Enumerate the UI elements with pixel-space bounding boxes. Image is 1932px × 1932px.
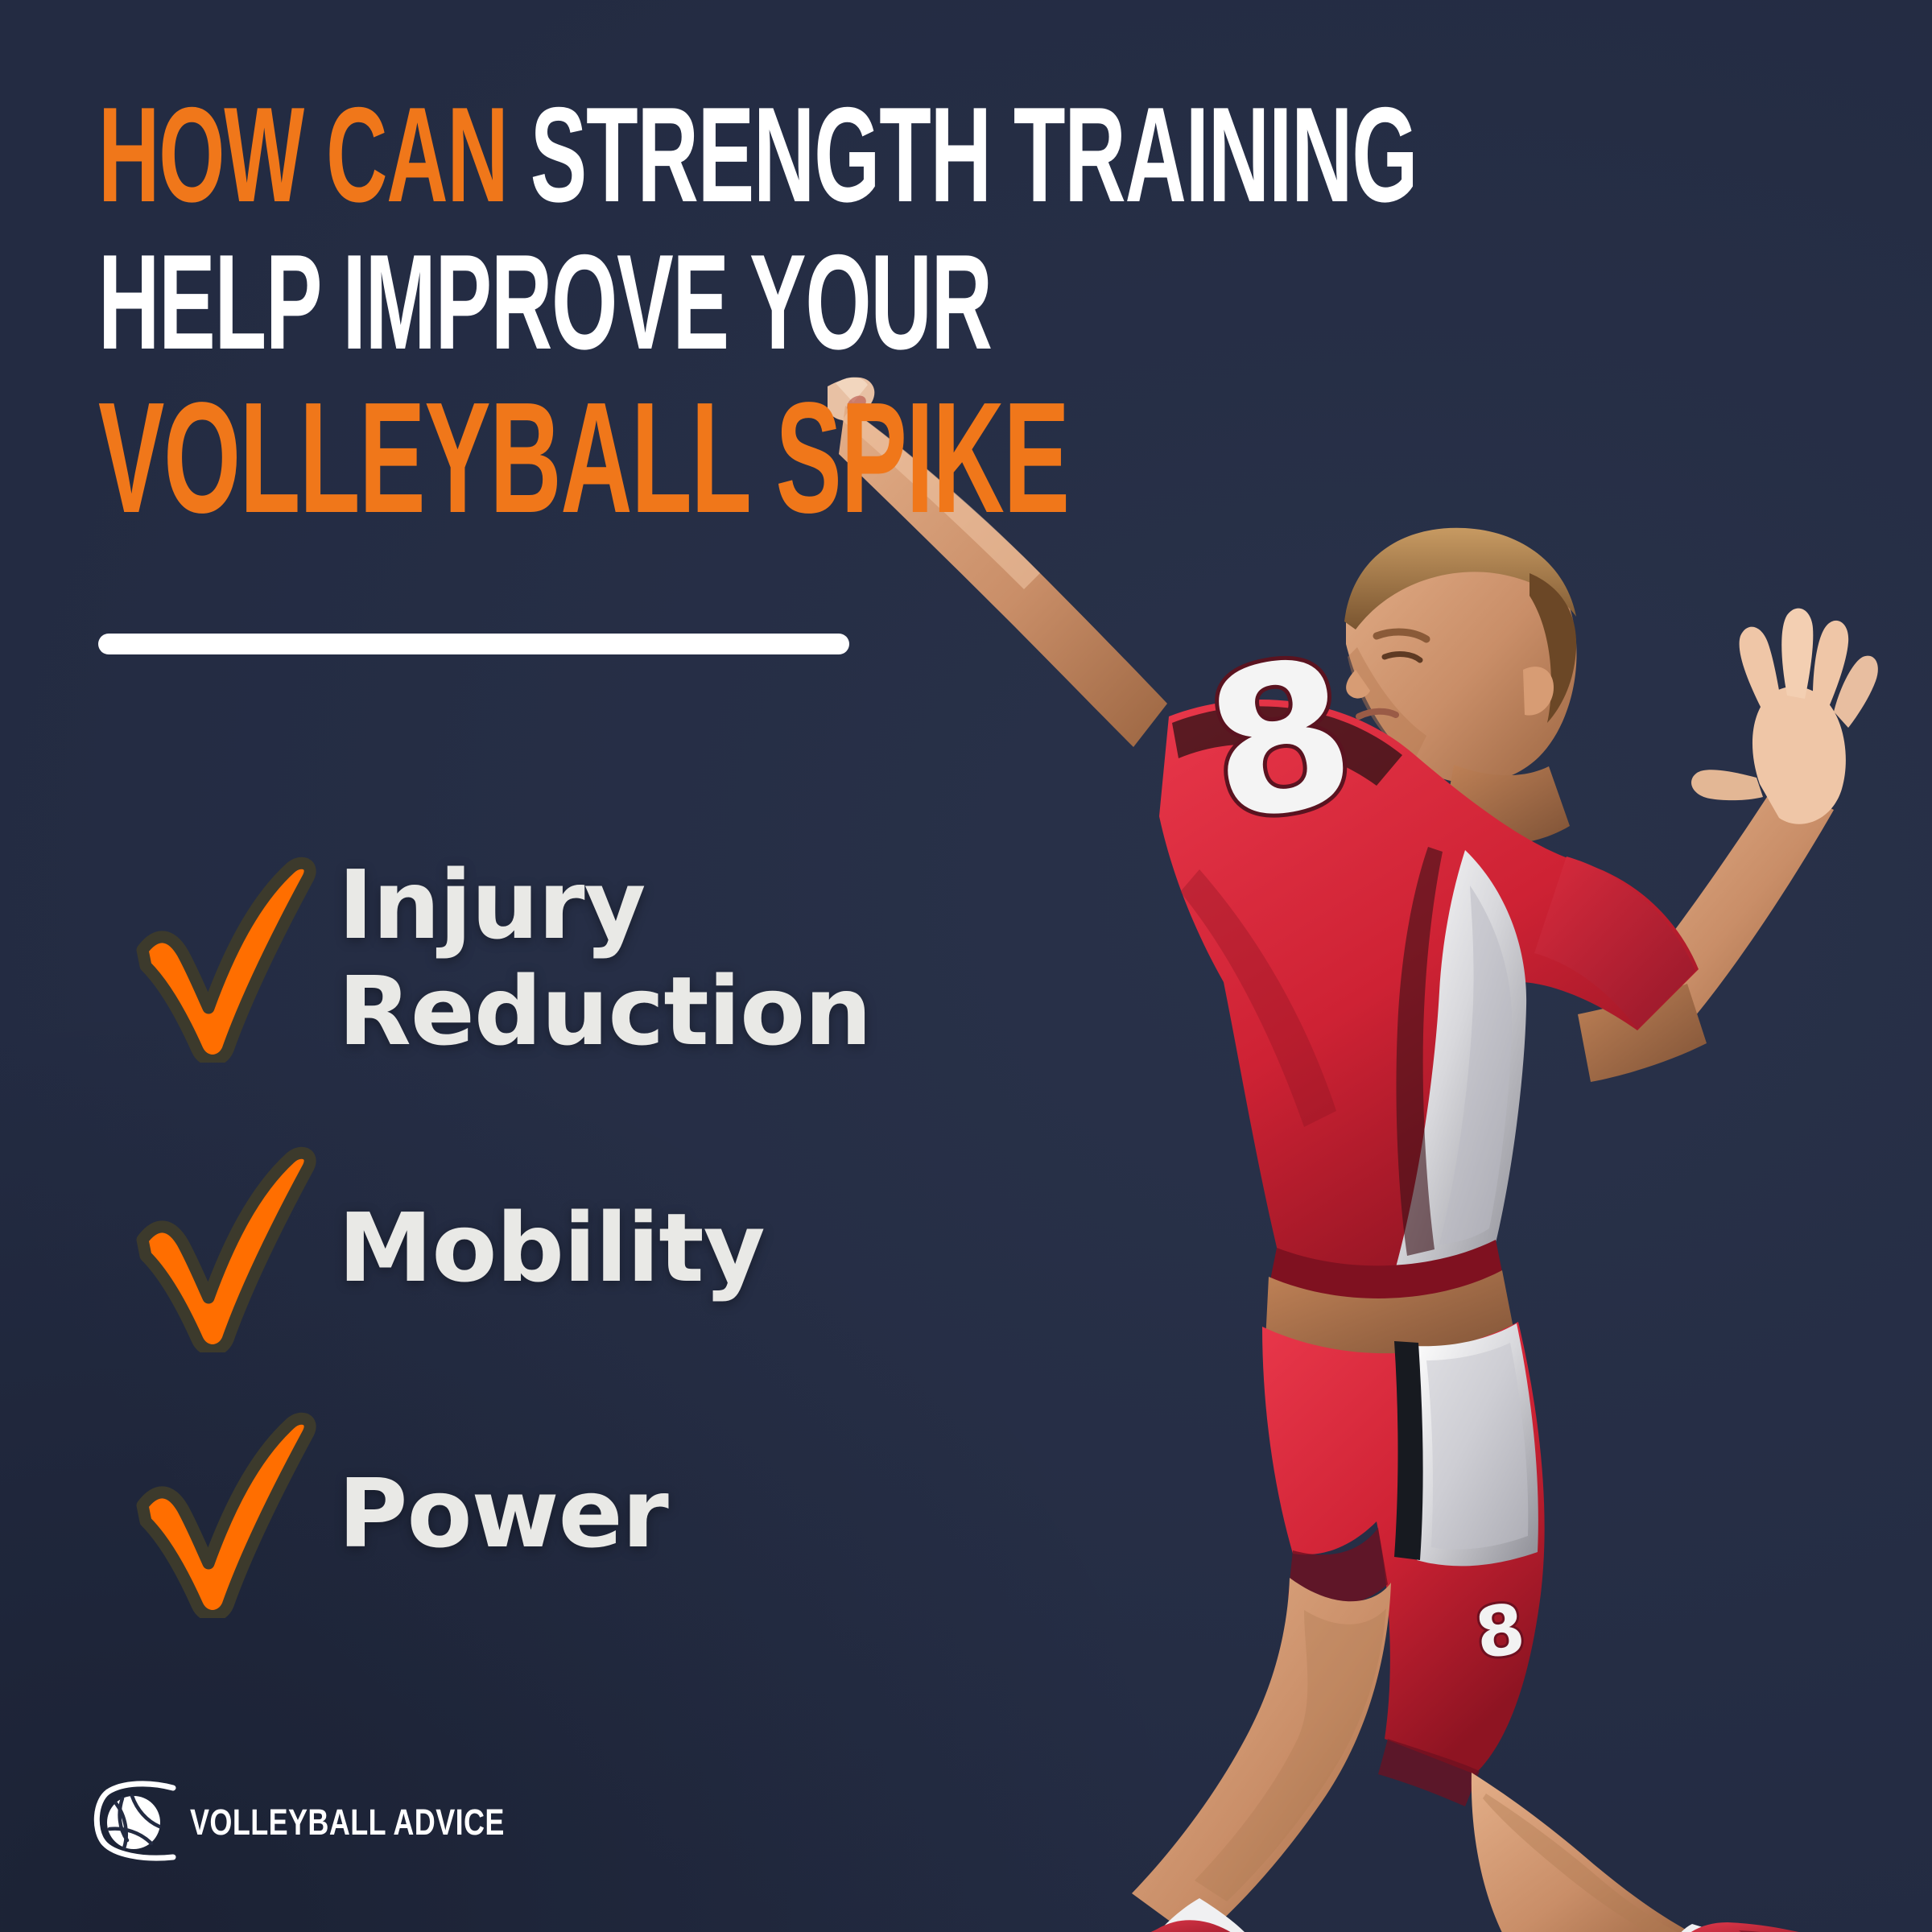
player-jersey: 8 [1159,613,1699,1300]
check-icon [121,1409,338,1618]
benefits-list: InjuryReduction Mobility Power [121,813,1167,1634]
headline-line-1-rest: STRENGTH TRAINING [530,79,1418,230]
headline-line-1: HOW CAN STRENGTH TRAINING [98,89,1837,221]
brand-logo[interactable]: VOLLEYBALL ADVICE [90,1781,584,1864]
player-midriff [1265,1270,1515,1364]
brand-logo-text: VOLLEYBALL ADVICE [190,1802,584,1843]
check-icon [121,1143,338,1352]
list-item: InjuryReduction [121,813,1167,1103]
list-item-label: InjuryReduction [338,852,871,1064]
player-shoes [1104,1898,1855,1932]
headline-accent-text: HOW CAN [98,79,508,230]
list-item-label: Mobility [338,1195,765,1301]
headline-line-2: HELP IMPROVE YOUR [98,236,1837,369]
svg-text:8: 8 [1471,1588,1529,1674]
player-head [1344,528,1576,844]
list-item: Mobility [121,1127,1167,1368]
list-item: Power [121,1393,1167,1634]
player-right-arm [1578,609,1878,1082]
player-legs [1132,1578,1707,1932]
poster-canvas: 8 8 [0,0,1932,1932]
headline-divider [98,634,849,654]
svg-text:8: 8 [1191,613,1370,868]
check-icon [121,853,338,1063]
player-shorts: 8 [1262,1322,1545,1806]
headline-line-3: VOLLEYBALL SPIKE [98,381,1837,535]
volleyball-icon [90,1781,177,1864]
headline-block: HOW CAN STRENGTH TRAINING HELP IMPROVE Y… [98,89,1837,535]
list-item-label: Power [338,1460,668,1567]
